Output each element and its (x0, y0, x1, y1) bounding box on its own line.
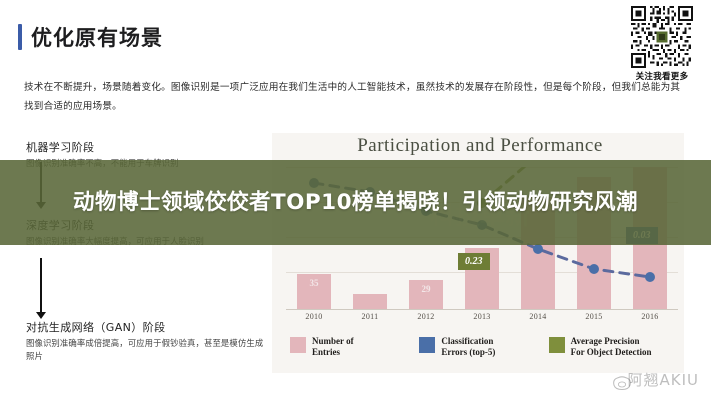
flow-stage-gan: 对抗生成网络（GAN）阶段 图像识别准确率成倍提高，可应用于假钞验真，甚至是模仿… (26, 320, 266, 363)
legend-label: Number ofEntries (312, 336, 354, 358)
x-axis-line (286, 309, 678, 310)
chart-legend: Number ofEntriesClassificationErrors (to… (290, 336, 678, 358)
x-axis-tick: 2016 (622, 312, 678, 321)
x-axis-tick: 2013 (454, 312, 510, 321)
x-axis-tick-labels: 2010201120122013201420152016 (286, 312, 678, 321)
legend-label: ClassificationErrors (top-5) (441, 336, 495, 358)
x-axis-tick: 2014 (510, 312, 566, 321)
qr-code-icon[interactable] (631, 6, 693, 68)
legend-item[interactable]: ClassificationErrors (top-5) (419, 336, 548, 358)
slide-header: 优化原有场景 (18, 22, 163, 52)
x-axis-tick: 2015 (566, 312, 622, 321)
chart-title: Participation and Performance (280, 135, 680, 157)
flow-stage-title: 机器学习阶段 (26, 140, 266, 155)
x-axis-tick: 2010 (286, 312, 342, 321)
legend-swatch (290, 337, 306, 353)
legend-item[interactable]: Number ofEntries (290, 336, 419, 358)
x-axis-tick: 2011 (342, 312, 398, 321)
legend-swatch (419, 337, 435, 353)
data-label-average-precision: 0.23 (458, 253, 490, 270)
page-title: 优化原有场景 (31, 22, 163, 52)
flow-stage-desc: 图像识别准确率成倍提高，可应用于假钞验真，甚至是模仿生成照片 (26, 337, 266, 363)
intro-paragraph: 技术在不断提升，场景随着变化。图像识别是一项广泛应用在我们生活中的人工智能技术，… (24, 78, 684, 116)
title-accent-bar (18, 24, 22, 50)
x-axis-tick: 2012 (398, 312, 454, 321)
watermark-text: 阿翘AKIU (627, 369, 699, 390)
legend-swatch (549, 337, 565, 353)
legend-item[interactable]: Average PrecisionFor Object Detection (549, 336, 678, 358)
slide-canvas: 优化原有场景 (0, 0, 711, 400)
legend-label: Average PrecisionFor Object Detection (571, 336, 652, 358)
flow-stage-title: 对抗生成网络（GAN）阶段 (26, 320, 266, 335)
overlay-headline: 动物博士领域佼佼者TOP10榜单揭晓！引领动物研究风潮 (0, 160, 711, 245)
qr-block: 关注我看更多 (623, 6, 701, 82)
